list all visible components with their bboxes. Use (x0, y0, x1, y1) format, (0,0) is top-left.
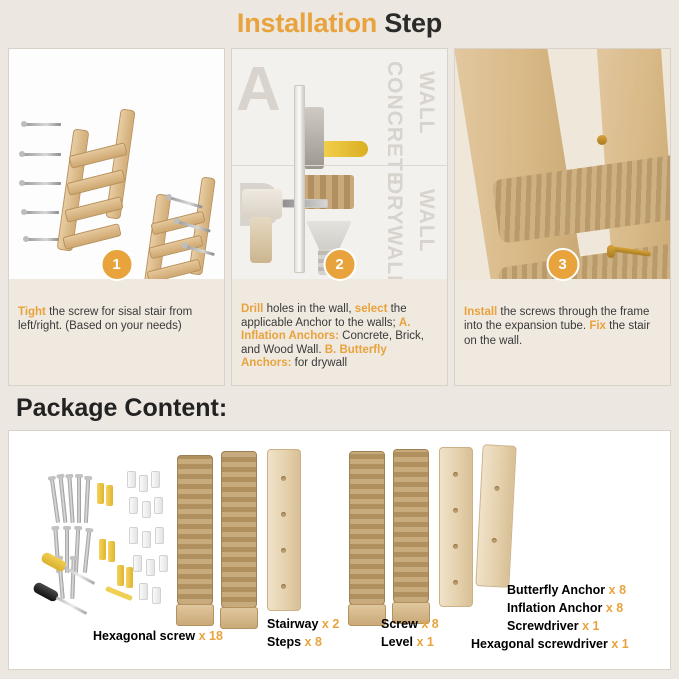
label-stairway-name: Stairway (267, 617, 318, 631)
step-2-text-1: holes in the wall, (263, 303, 354, 315)
plank-wood-2 (439, 447, 473, 607)
plank-rope-4 (393, 449, 429, 603)
step-3-photo (455, 49, 670, 281)
label-butterfly-anchor: Butterfly Anchor x 8 (507, 583, 626, 597)
label-inflation-anchor: Inflation Anchor x 8 (507, 601, 623, 615)
label-hexagonal-screwdriver-name: Hexagonal screwdriver (471, 637, 608, 651)
step-2-lead-select: select (355, 303, 388, 315)
package-content-panel: Hexagonal screw x 18 Stairway x 2 Steps … (8, 430, 671, 670)
label-hexagonal-screw-qty: x 18 (199, 629, 223, 643)
label-screwdriver-qty: x 1 (582, 619, 599, 633)
label-screw-name: Screw (381, 617, 418, 631)
step-card-3: 3 Install the screws through the frame i… (454, 48, 671, 386)
wall-label-drywall: DRYWALL (382, 179, 406, 281)
step-card-1: 1 Tight the screw for sisal stair from l… (8, 48, 225, 386)
anchor-letter-a: A (236, 59, 281, 121)
label-steps: Steps x 8 (267, 635, 322, 649)
step-3-lead-fix: Fix (589, 320, 606, 332)
wall-label-word-a: WALL (414, 71, 438, 134)
label-hexagonal-screwdriver-qty: x 1 (611, 637, 628, 651)
step-2-caption: Drill holes in the wall, select the appl… (232, 279, 447, 385)
step-2-lead-drill: Drill (241, 303, 263, 315)
label-level-name: Level (381, 635, 413, 649)
label-butterfly-anchor-name: Butterfly Anchor (507, 583, 605, 597)
step-1-photo (9, 49, 224, 281)
step-2-text-4: for drywall (291, 357, 347, 369)
label-hexagonal-screwdriver: Hexagonal screwdriver x 1 (471, 637, 629, 651)
label-steps-qty: x 8 (305, 635, 322, 649)
plank-rope-1 (177, 455, 213, 605)
step-3-caption: Install the screws through the frame int… (455, 279, 670, 385)
stairway-side-rail (475, 444, 516, 588)
plank-rope-3 (349, 451, 385, 605)
step-card-2: A CONCRETE WALL B DRYWALL WALL (231, 48, 448, 386)
installation-guide-page: Installation Step (0, 0, 679, 679)
label-hexagonal-screw-name: Hexagonal screw (93, 629, 195, 643)
package-content-title: Package Content: (16, 394, 227, 423)
steps-row: 1 Tight the screw for sisal stair from l… (8, 48, 671, 386)
label-inflation-anchor-qty: x 8 (606, 601, 623, 615)
label-level-qty: x 1 (416, 635, 433, 649)
title-part-step: Step (384, 8, 442, 38)
label-hexagonal-screw: Hexagonal screw x 18 (93, 629, 223, 643)
page-title: Installation Step (0, 0, 679, 39)
label-steps-name: Steps (267, 635, 301, 649)
wall-label-concrete: CONCRETE (382, 61, 406, 187)
title-part-installation: Installation (237, 8, 377, 38)
label-butterfly-anchor-qty: x 8 (609, 583, 626, 597)
label-screwdriver-name: Screwdriver (507, 619, 579, 633)
step-1-caption: Tight the screw for sisal stair from lef… (9, 279, 224, 385)
wall-label-word-b: WALL (414, 189, 438, 252)
step-2-photo: A CONCRETE WALL B DRYWALL WALL (232, 49, 447, 281)
step-1-lead: Tight (18, 306, 46, 318)
label-stairway-qty: x 2 (322, 617, 339, 631)
label-screw-qty: x 8 (421, 617, 438, 631)
step-2-badge: 2 (323, 248, 356, 281)
hex-key (105, 586, 133, 601)
label-screwdriver: Screwdriver x 1 (507, 619, 599, 633)
label-level: Level x 1 (381, 635, 434, 649)
step-3-lead-install: Install (464, 306, 497, 318)
plank-rope-2 (221, 451, 257, 608)
label-screw: Screw x 8 (381, 617, 439, 631)
label-stairway: Stairway x 2 (267, 617, 339, 631)
step-1-badge: 1 (100, 248, 133, 281)
step-3-badge: 3 (546, 248, 579, 281)
label-inflation-anchor-name: Inflation Anchor (507, 601, 602, 615)
plank-wood-1 (267, 449, 301, 611)
